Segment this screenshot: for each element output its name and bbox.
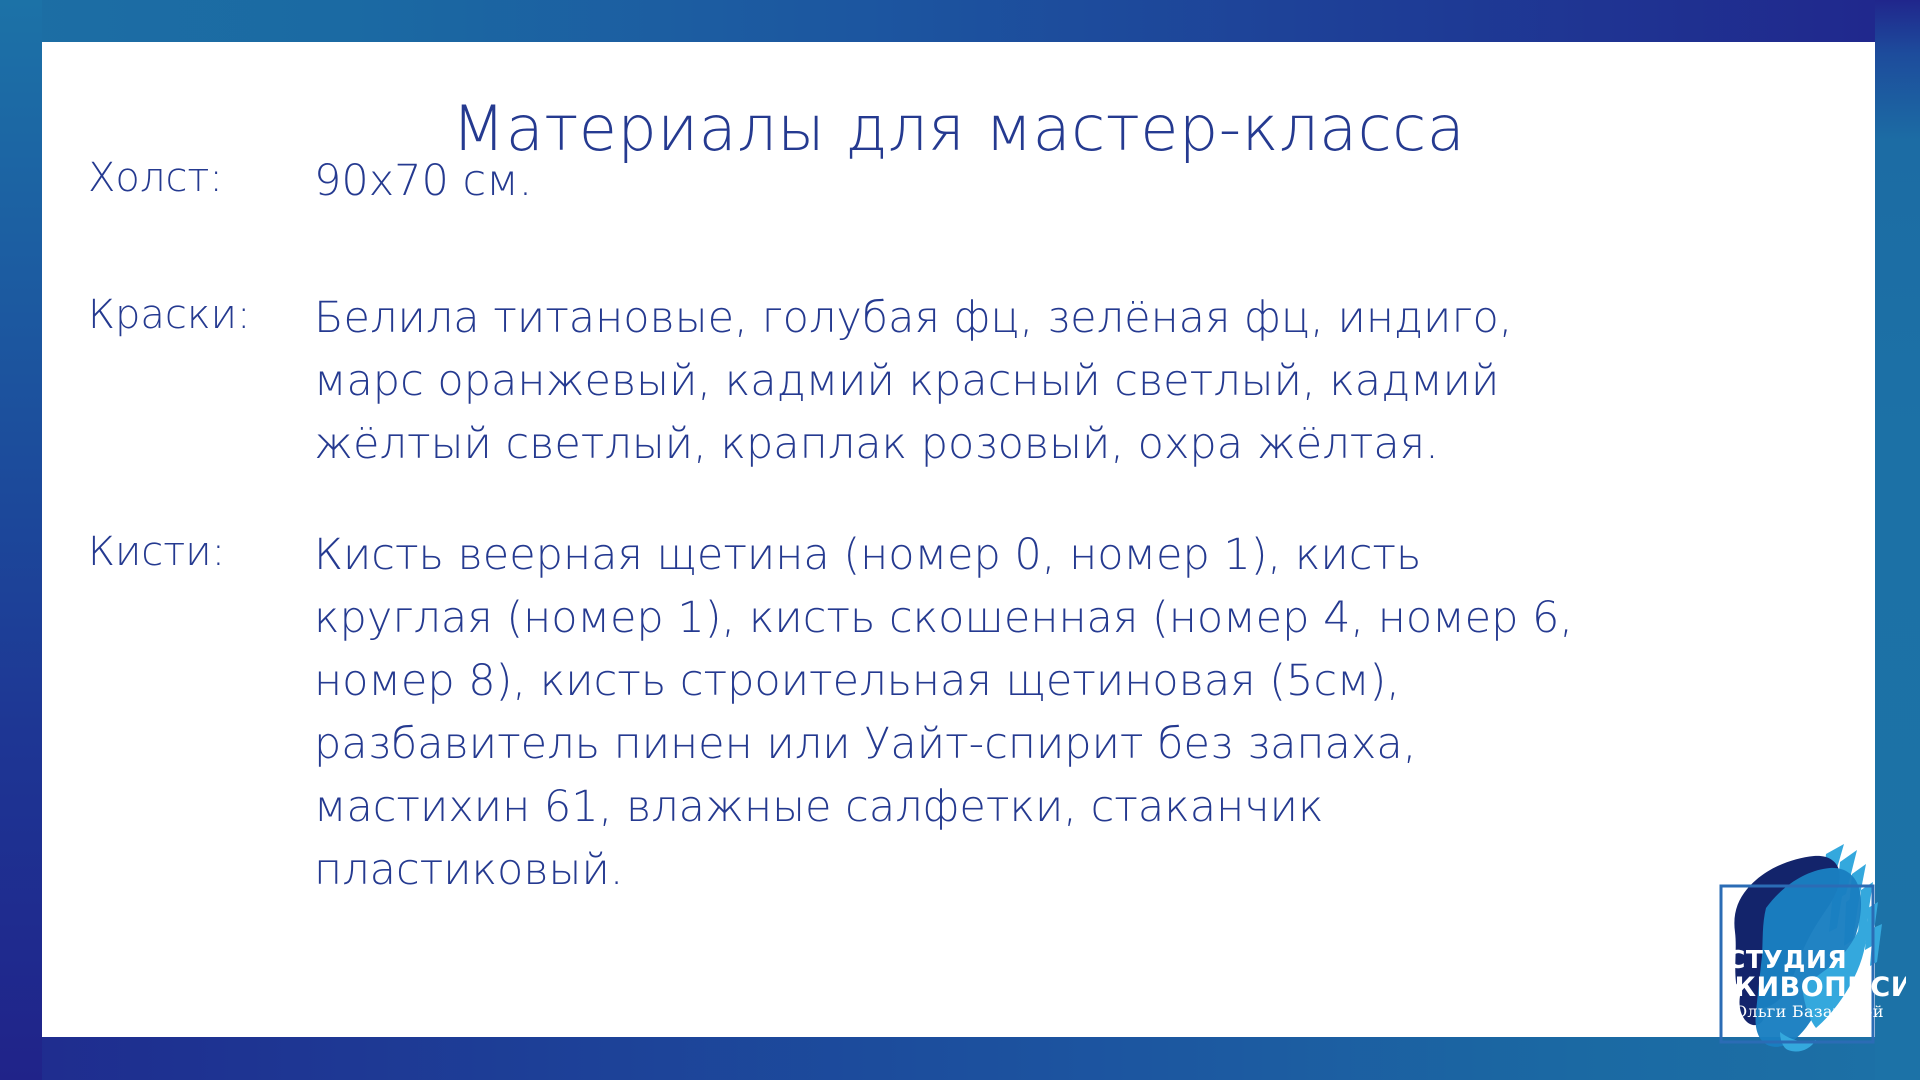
logo-line3: Ольги Базановой — [1734, 1002, 1884, 1021]
materials-label-paints: Краски: — [88, 287, 314, 343]
materials-row-paints: Краски: Белила титановые, голубая фц, зе… — [88, 287, 1788, 476]
logo-line2: ЖИВОПИСИ — [1723, 972, 1906, 1003]
decorative-band-left — [0, 0, 42, 1080]
materials-row-canvas: Холст: 90x70 см. — [88, 150, 1788, 213]
decorative-band-bottom — [0, 1037, 1920, 1080]
materials-list: Холст: 90x70 см. Краски: Белила титановы… — [88, 150, 1788, 902]
materials-value-canvas: 90x70 см. — [314, 150, 1604, 213]
logo-line1: СТУДИЯ — [1727, 945, 1847, 974]
materials-row-brushes: Кисти: Кисть веерная щетина (номер 0, но… — [88, 524, 1788, 902]
slide: Материалы для мастер-класса Холст: 90x70… — [0, 0, 1920, 1080]
materials-label-canvas: Холст: — [88, 150, 314, 206]
decorative-band-top — [0, 0, 1920, 42]
materials-value-paints: Белила титановые, голубая фц, зелёная фц… — [314, 287, 1604, 476]
materials-label-brushes: Кисти: — [88, 524, 314, 580]
content-panel: Материалы для мастер-класса Холст: 90x70… — [42, 42, 1875, 1037]
materials-value-brushes: Кисть веерная щетина (номер 0, номер 1),… — [314, 524, 1604, 902]
studio-logo-icon: СТУДИЯ ЖИВОПИСИ Ольги Базановой — [1694, 836, 1906, 1058]
studio-logo: СТУДИЯ ЖИВОПИСИ Ольги Базановой — [1694, 836, 1906, 1058]
